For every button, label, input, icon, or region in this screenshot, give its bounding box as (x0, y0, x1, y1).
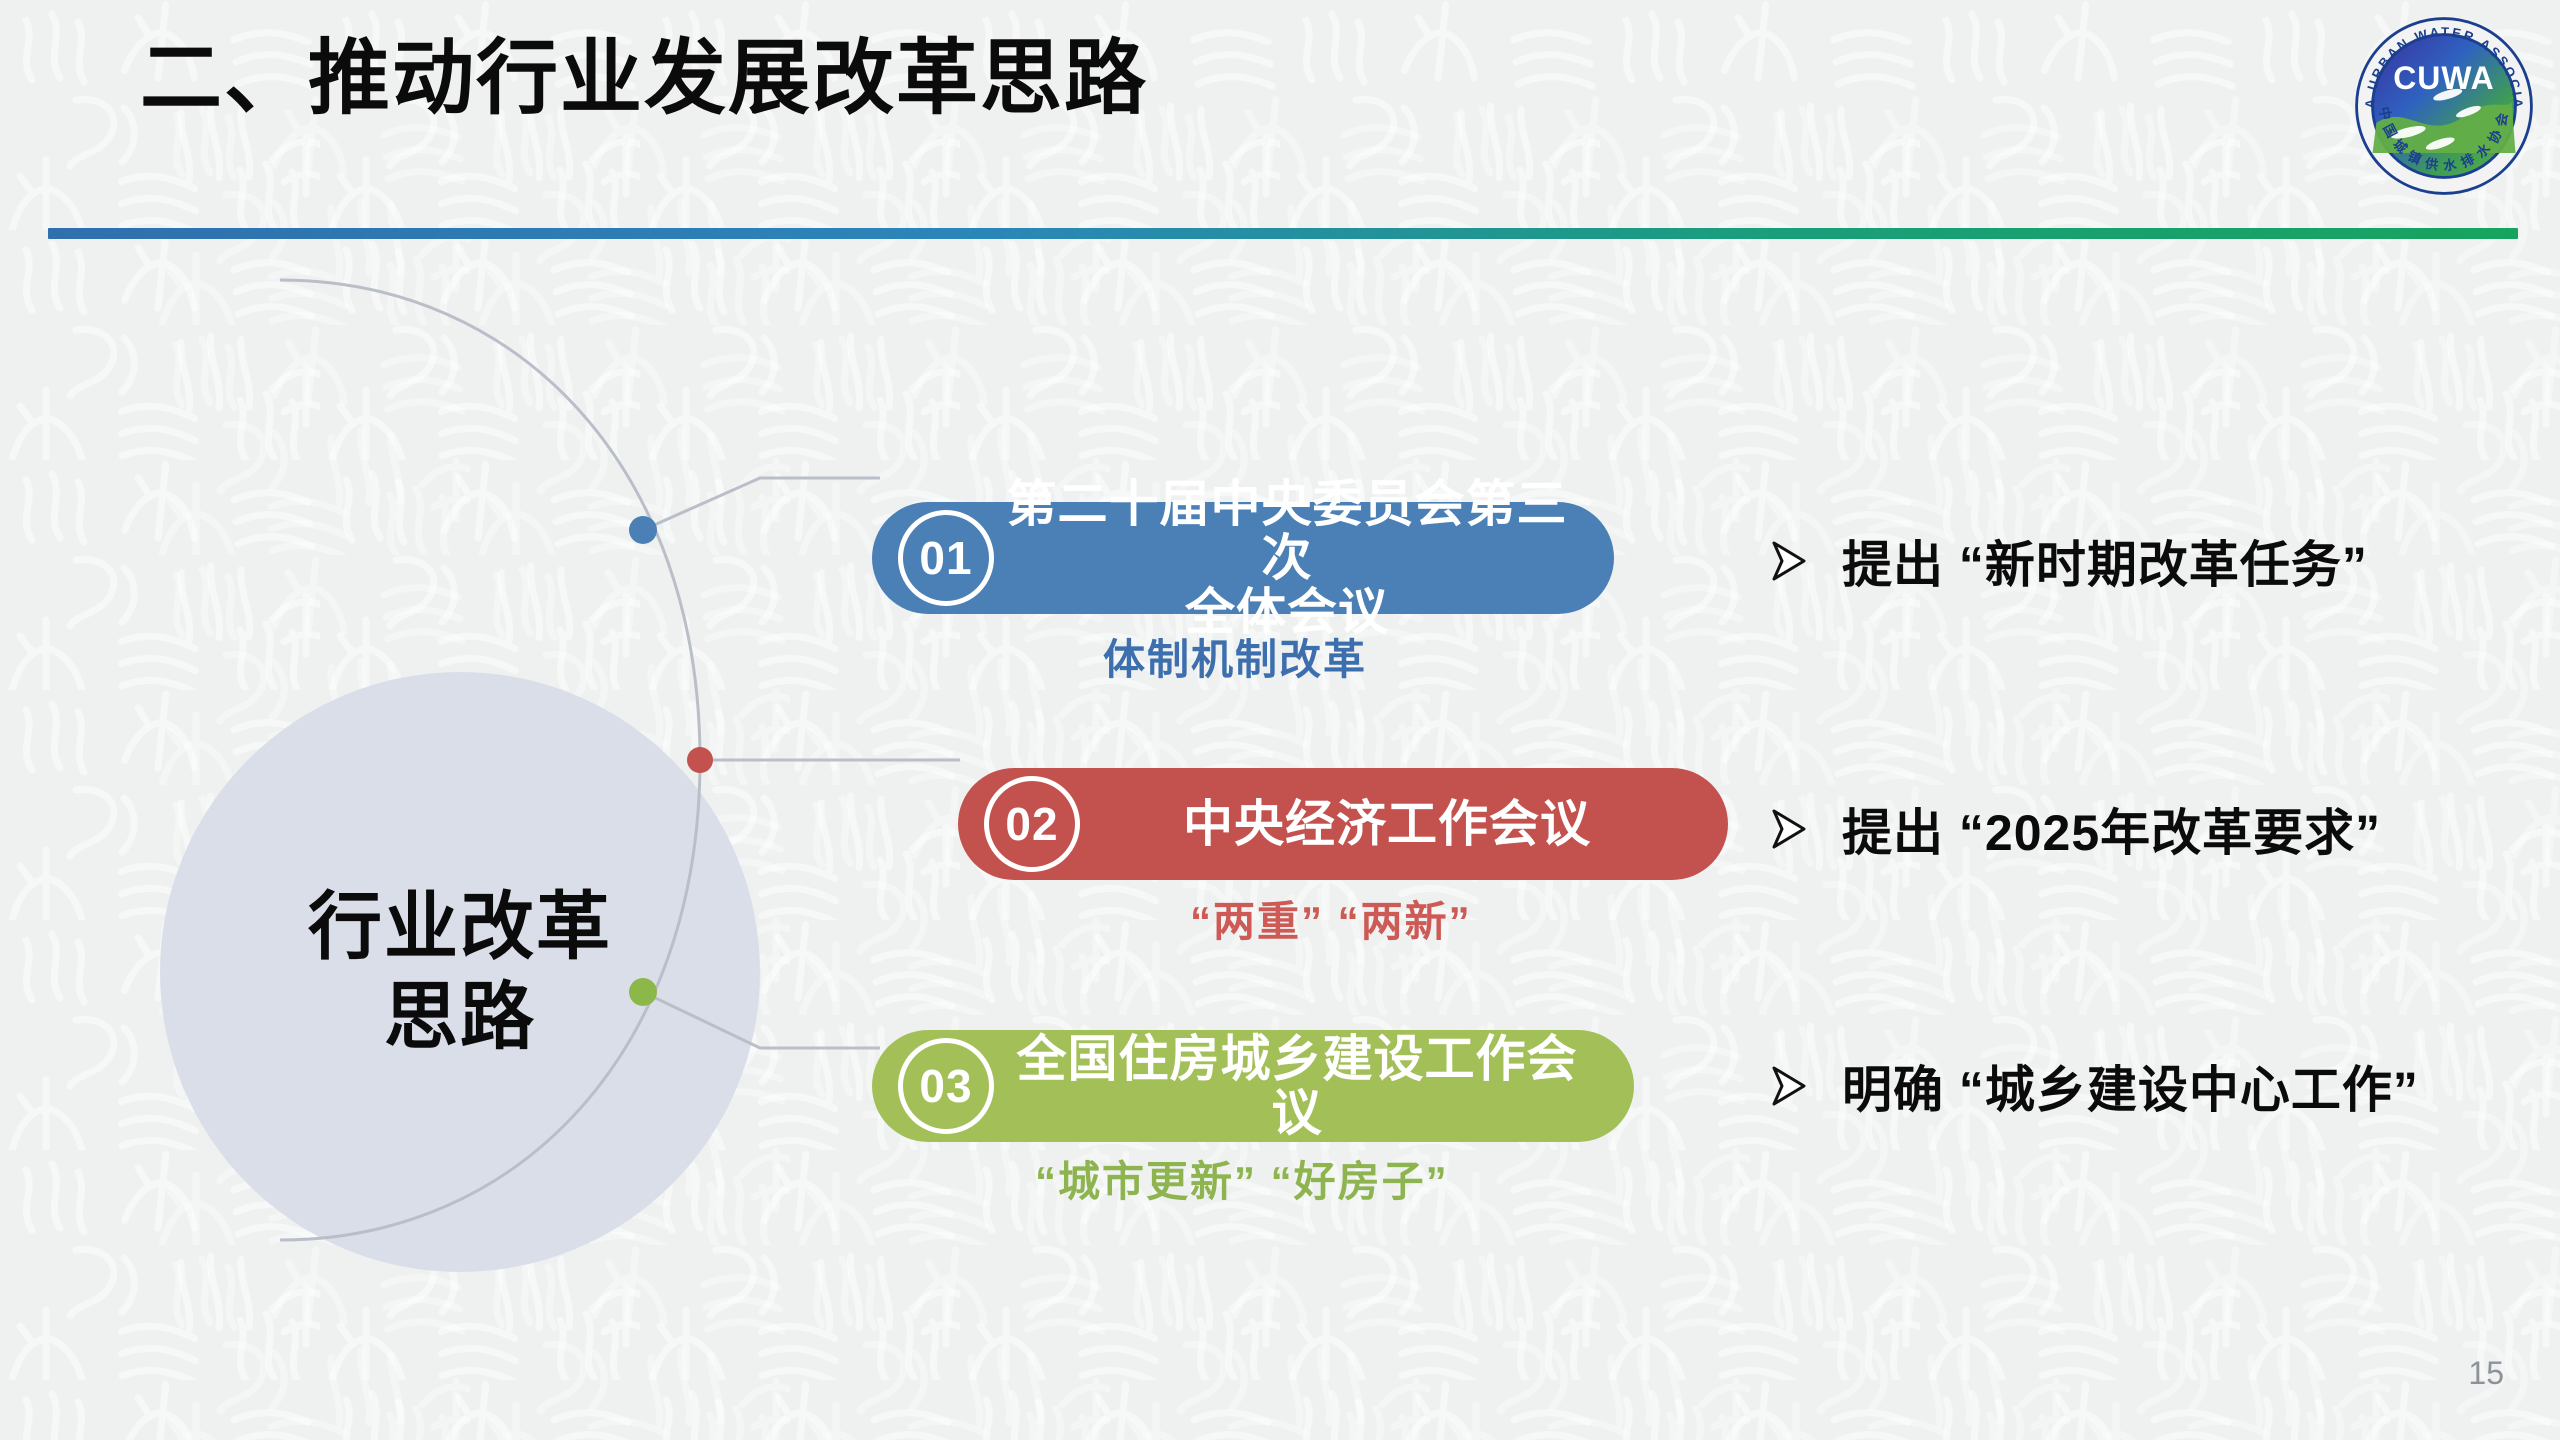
page-title: 二、推动行业发展改革思路 (140, 32, 1148, 126)
arrow-bullet-icon (1768, 539, 1808, 583)
card-03-title: 全国住房城乡建设工作会议 (994, 1032, 1600, 1140)
card-01-number: 01 (898, 510, 994, 606)
card-01-subtitle: 体制机制改革 (1103, 626, 1367, 687)
card-03[interactable]: 03 全国住房城乡建设工作会议 (872, 1030, 1634, 1142)
page-number: 15 (2468, 1355, 2504, 1392)
card-01-title: 第二十届中央委员会第三次 全体会议 (994, 477, 1580, 639)
svg-text:CUWA: CUWA (2393, 60, 2494, 96)
bullet-item-2: 提出 “2025年改革要求” (1768, 793, 2381, 865)
arrow-bullet-icon (1768, 807, 1808, 851)
card-02-number: 02 (984, 776, 1080, 872)
card-01[interactable]: 01 第二十届中央委员会第三次 全体会议 (872, 502, 1614, 614)
card-02-title: 中央经济工作会议 (1080, 797, 1694, 851)
bullet-item-2-text: 提出 “2025年改革要求” (1842, 793, 2381, 865)
bullet-item-1: 提出 “新时期改革任务” (1768, 525, 2368, 597)
card-02[interactable]: 02 中央经济工作会议 (958, 768, 1728, 880)
connector-dot-02 (687, 747, 713, 773)
title-divider (48, 228, 2518, 239)
card-02-subtitle: “两重” “两新” (1190, 888, 1472, 949)
card-03-number: 03 (898, 1038, 994, 1134)
bullet-item-3-text: 明确 “城乡建设中心工作” (1842, 1050, 2419, 1122)
bullet-item-1-text: 提出 “新时期改革任务” (1842, 525, 2368, 597)
cuwa-logo: CHINA URBAN WATER ASSOCIATION 中国城镇供水排水协会… (2350, 12, 2538, 200)
connector-dot-01 (629, 516, 657, 544)
card-03-subtitle: “城市更新” “好房子” (1035, 1148, 1449, 1209)
slide-canvas: 二、推动行业发展改革思路 CHINA URBAN WATER ASSOCIATI… (0, 0, 2560, 1440)
bullet-item-3: 明确 “城乡建设中心工作” (1768, 1050, 2419, 1122)
connector-dot-03 (629, 978, 657, 1006)
arrow-bullet-icon (1768, 1064, 1808, 1108)
